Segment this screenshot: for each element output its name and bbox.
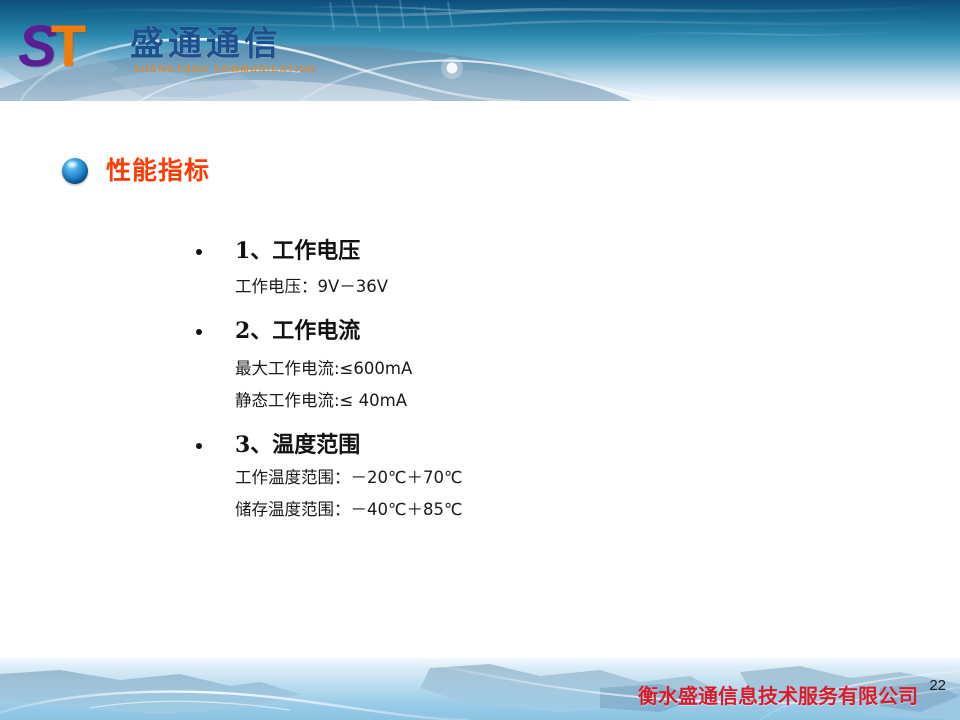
section-detail-line: 工作温度范围：－20℃＋70℃ (235, 463, 896, 493)
bullet-dot-icon (196, 314, 212, 348)
content-body: 1、工作电压 工作电压：9V－36V 2、工作电流 最大工作电流:≤600mA … (196, 234, 896, 525)
page-number: 22 (929, 677, 946, 694)
section-heading: 1、工作电压 (235, 234, 360, 268)
logo-mark: ST (18, 18, 84, 76)
blue-sphere-bullet-icon (62, 158, 88, 184)
list-item: 3、温度范围 (196, 428, 896, 462)
footer-company-name: 衡水盛通信息技术服务有限公司 (638, 684, 918, 708)
section-detail-line: 工作电压：9V－36V (235, 272, 896, 302)
logo-company-name-cn: 盛通通信 (130, 25, 282, 63)
section-heading: 2、工作电流 (235, 314, 360, 348)
list-item: 1、工作电压 (196, 234, 896, 268)
section-heading: 3、温度范围 (235, 428, 360, 462)
logo-company-name-en: SHENGTONG COMMUNICATION (134, 64, 317, 75)
list-item: 2、工作电流 (196, 314, 896, 348)
header-banner: ST 盛通通信 SHENGTONG COMMUNICATION (0, 0, 960, 101)
section-detail-line: 静态工作电流:≤ 40mA (235, 386, 896, 416)
slide-title-row: 性能指标 (62, 157, 210, 185)
bullet-dot-icon (196, 428, 212, 462)
slide: ST 盛通通信 SHENGTONG COMMUNICATION 性能指标 1、工… (0, 0, 960, 720)
logo-letter-s: S (18, 14, 55, 79)
section-detail-line: 储存温度范围：－40℃＋85℃ (235, 495, 896, 525)
section-detail-line: 最大工作电流:≤600mA (235, 354, 896, 384)
company-logo: ST 盛通通信 SHENGTONG COMMUNICATION (18, 12, 308, 84)
bullet-dot-icon (196, 234, 212, 268)
footer-banner: 衡水盛通信息技术服务有限公司 (0, 658, 960, 720)
page-title: 性能指标 (106, 157, 210, 185)
logo-letter-t: T (51, 14, 84, 79)
